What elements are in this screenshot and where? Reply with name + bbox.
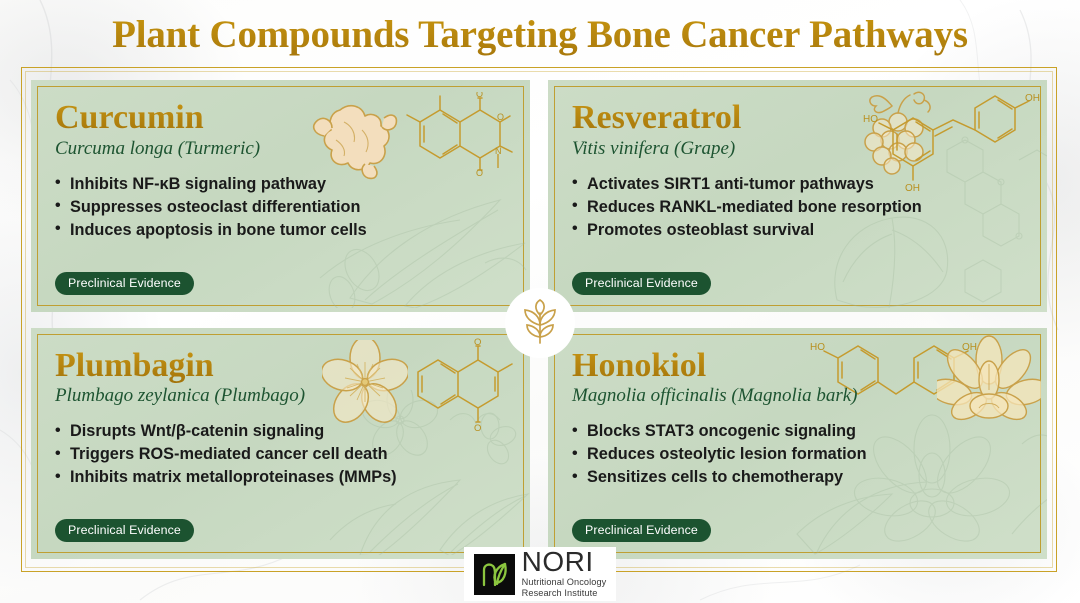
- brand-name: NORI: [522, 549, 607, 576]
- status-badge: Preclinical Evidence: [55, 272, 194, 295]
- center-medallion: [505, 288, 575, 358]
- bullet-item: Inhibits matrix metalloproteinases (MMPs…: [55, 466, 508, 489]
- nori-leaf-logomark-icon: [474, 554, 515, 595]
- compound-card-honokiol[interactable]: HO OH: [548, 328, 1047, 560]
- brand-tagline-line2: Research Institute: [522, 588, 607, 599]
- compound-bullet-list: Disrupts Wnt/β-catenin signaling Trigger…: [55, 420, 508, 489]
- compound-species: Magnolia officinalis (Magnolia bark): [572, 385, 1025, 407]
- compound-name: Resveratrol: [572, 100, 1025, 136]
- status-badge: Preclinical Evidence: [55, 519, 194, 542]
- bullet-item: Reduces osteolytic lesion formation: [572, 443, 1025, 466]
- footer-logo-bar: NORI Nutritional Oncology Research Insti…: [0, 545, 1080, 603]
- bullet-item: Inhibits NF-κB signaling pathway: [55, 173, 508, 196]
- bullet-item: Disrupts Wnt/β-catenin signaling: [55, 420, 508, 443]
- compound-name: Curcumin: [55, 100, 508, 136]
- compound-species: Curcuma longa (Turmeric): [55, 138, 508, 160]
- bullet-item: Activates SIRT1 anti-tumor pathways: [572, 173, 1025, 196]
- bullet-item: Blocks STAT3 oncogenic signaling: [572, 420, 1025, 443]
- nori-logo-text: NORI Nutritional Oncology Research Insti…: [522, 549, 607, 598]
- status-badge: Preclinical Evidence: [572, 272, 711, 295]
- page-title: Plant Compounds Targeting Bone Cancer Pa…: [0, 12, 1080, 57]
- leaf-sprout-emblem-icon: [515, 299, 565, 347]
- brand-tagline-line1: Nutritional Oncology: [522, 577, 607, 588]
- bullet-item: Promotes osteoblast survival: [572, 219, 1025, 242]
- nori-logo: NORI Nutritional Oncology Research Insti…: [464, 547, 617, 600]
- compound-bullet-list: Inhibits NF-κB signaling pathway Suppres…: [55, 173, 508, 242]
- brand-tagline: Nutritional Oncology Research Institute: [522, 577, 607, 599]
- compound-card-plumbagin[interactable]: O O Plumbagin Plumbago zeylanica (Plumba…: [31, 328, 530, 560]
- bullet-item: Triggers ROS-mediated cancer cell death: [55, 443, 508, 466]
- status-badge: Preclinical Evidence: [572, 519, 711, 542]
- bullet-item: Sensitizes cells to chemotherapy: [572, 466, 1025, 489]
- compound-species: Plumbago zeylanica (Plumbago): [55, 385, 508, 407]
- compound-card-curcumin[interactable]: O O O N Curcumin Curcuma longa (Turmeric…: [31, 80, 530, 312]
- bullet-item: Induces apoptosis in bone tumor cells: [55, 219, 508, 242]
- compound-name: Plumbagin: [55, 348, 508, 384]
- bullet-item: Reduces RANKL-mediated bone resorption: [572, 196, 1025, 219]
- infographic-root: Plant Compounds Targeting Bone Cancer Pa…: [0, 0, 1080, 603]
- compound-bullet-list: Blocks STAT3 oncogenic signaling Reduces…: [572, 420, 1025, 489]
- compound-bullet-list: Activates SIRT1 anti-tumor pathways Redu…: [572, 173, 1025, 242]
- compound-card-resveratrol[interactable]: HO OH OH Resveratrol Vitis vinifera (Gra…: [548, 80, 1047, 312]
- bullet-item: Suppresses osteoclast differentiation: [55, 196, 508, 219]
- compound-name: Honokiol: [572, 348, 1025, 384]
- compound-species: Vitis vinifera (Grape): [572, 138, 1025, 160]
